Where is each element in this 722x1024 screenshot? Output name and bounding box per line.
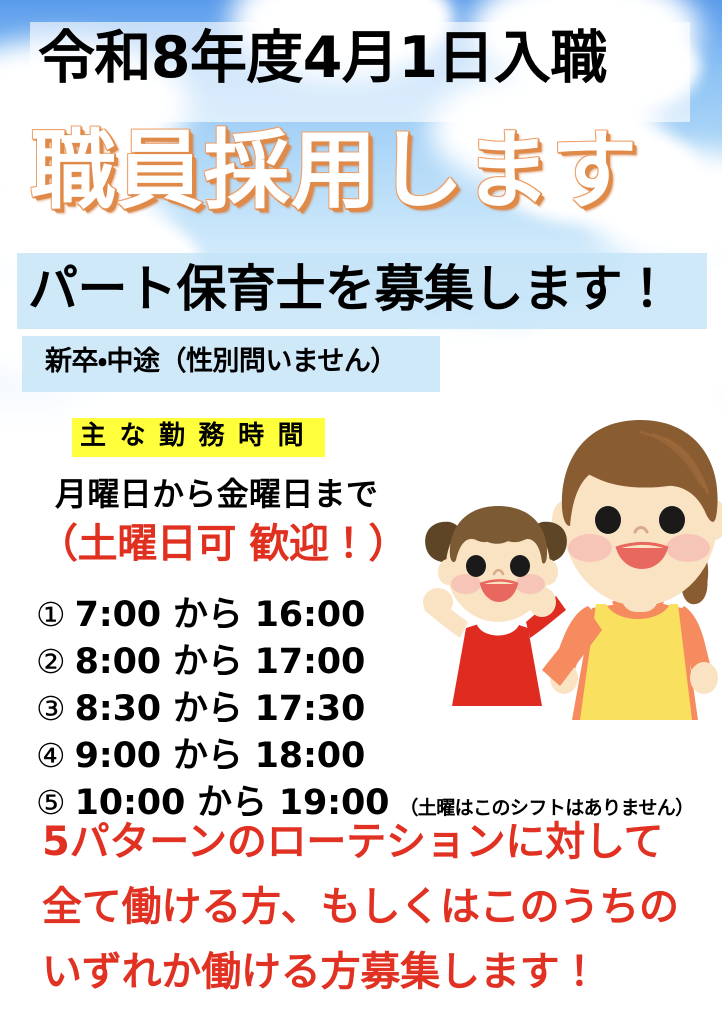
eligibility-note: 新卒・中途（性別問いません） — [45, 348, 397, 375]
hours-heading: 主な勤務時間 — [72, 418, 325, 457]
closing-line: 5パターンのローテションに対して — [42, 822, 702, 862]
weekday-line: 月曜日から金曜日まで — [55, 478, 378, 510]
shift-time: 9:00 から 18:00 — [75, 727, 366, 778]
shift-note: （土曜はこのシフトはありません） — [399, 793, 693, 820]
shift-time: 10:00 から 19:00 — [75, 774, 390, 825]
header-date: 令和8年度4月1日入職 — [38, 30, 607, 87]
shift-row: ⑤ 10:00 から 19:00 （土曜はこのシフトはありません） — [36, 774, 716, 821]
closing-line: 全て働ける方、もしくはこのうちの — [42, 887, 702, 927]
saturday-line: （土曜日可 歓迎！） — [38, 524, 408, 564]
shift-marker: ② — [36, 642, 66, 681]
poster-root: 令和8年度4月1日入職 職員採用します パート保育士を募集します！ 新卒・中途（… — [0, 0, 722, 1024]
caregiver-and-child-illustration — [420, 390, 722, 750]
main-headline: 職員採用します — [30, 128, 638, 214]
closing-line: いずれか働ける方募集します！ — [42, 952, 702, 992]
subheadline: パート保育士を募集します！ — [28, 264, 672, 314]
shift-time: 7:00 から 16:00 — [75, 586, 366, 637]
shift-marker: ⑤ — [36, 783, 66, 822]
shift-time: 8:30 から 17:30 — [75, 680, 366, 731]
shift-marker: ③ — [36, 689, 66, 728]
shift-marker: ① — [36, 595, 66, 634]
closing-block: 5パターンのローテションに対して 全て働ける方、もしくはこのうちの いずれか働け… — [42, 822, 702, 1017]
shift-marker: ④ — [36, 736, 66, 775]
shift-time: 8:00 から 17:00 — [75, 633, 366, 684]
